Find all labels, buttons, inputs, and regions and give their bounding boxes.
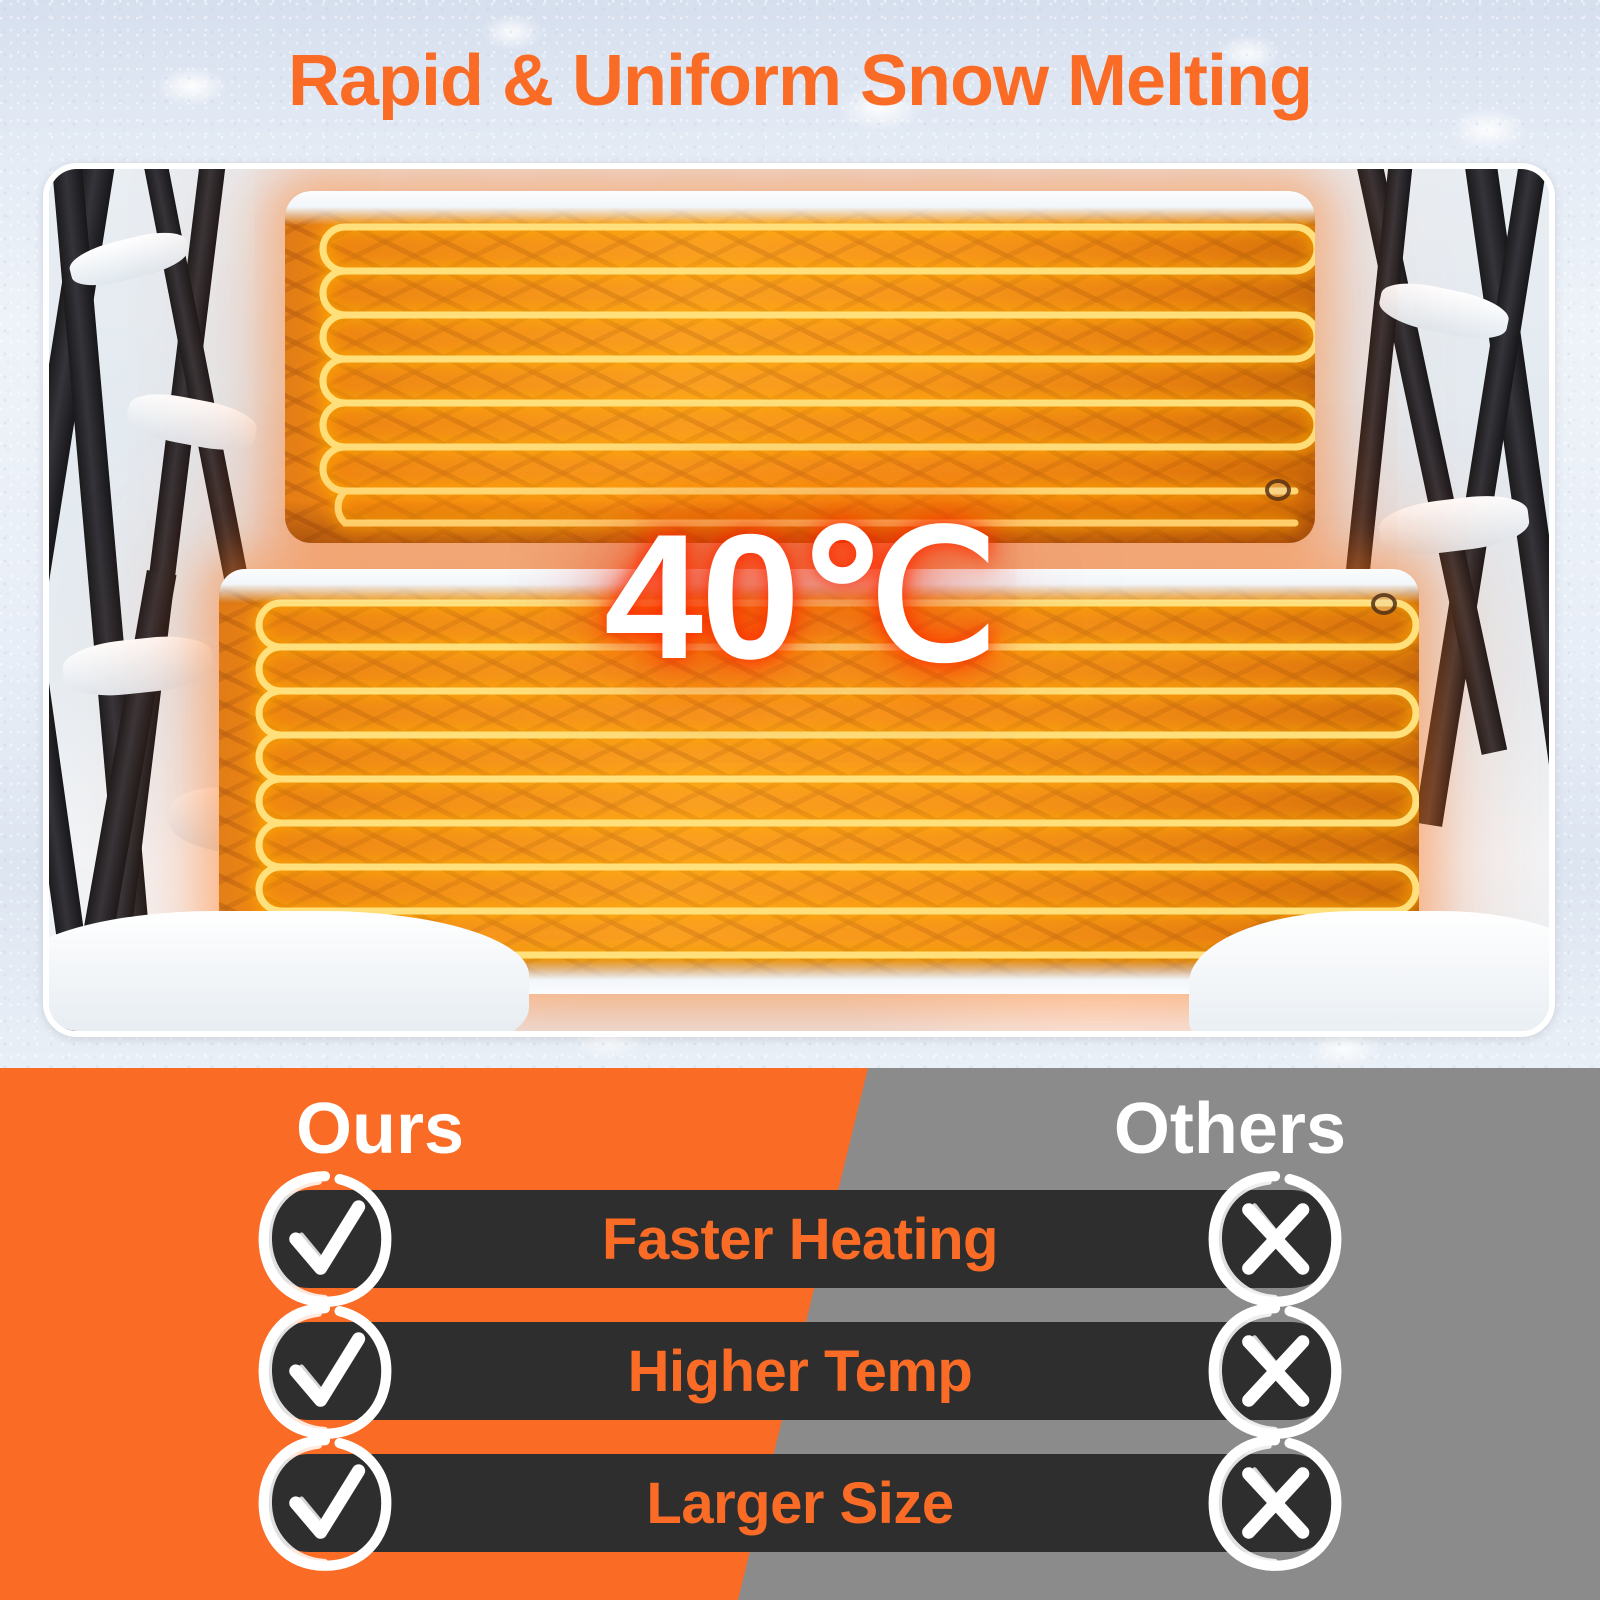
cross-icon (1202, 1430, 1348, 1576)
comparison-row: Higher Temp (260, 1322, 1340, 1420)
snow-drift (1189, 911, 1549, 1031)
comparison-row: Faster Heating (260, 1190, 1340, 1288)
comparison-row-label: Higher Temp (260, 1322, 1340, 1420)
comparison-row: Larger Size (260, 1454, 1340, 1552)
snow-crust (285, 191, 1315, 225)
mat-grommet (1371, 593, 1397, 615)
ours-heading: Ours (296, 1090, 464, 1169)
comparison-row-label: Larger Size (260, 1454, 1340, 1552)
snow-crust (219, 569, 1419, 603)
check-icon (252, 1166, 398, 1312)
hero-photo-card (43, 163, 1555, 1037)
check-icon (252, 1430, 398, 1576)
snow-drift (49, 911, 529, 1031)
mat-grommet (1265, 479, 1291, 501)
cross-icon (1202, 1298, 1348, 1444)
hero-photo (49, 169, 1549, 1031)
cross-icon (1202, 1166, 1348, 1312)
comparison-row-label: Faster Heating (260, 1190, 1340, 1288)
page-title: Rapid & Uniform Snow Melting (0, 40, 1600, 122)
check-icon (252, 1298, 398, 1444)
comparison-section: Ours Others Faster Heating Higher Temp (0, 1068, 1600, 1600)
heating-mat-top (285, 191, 1315, 543)
others-heading: Others (1114, 1090, 1346, 1169)
heating-element-coil (285, 191, 1315, 543)
